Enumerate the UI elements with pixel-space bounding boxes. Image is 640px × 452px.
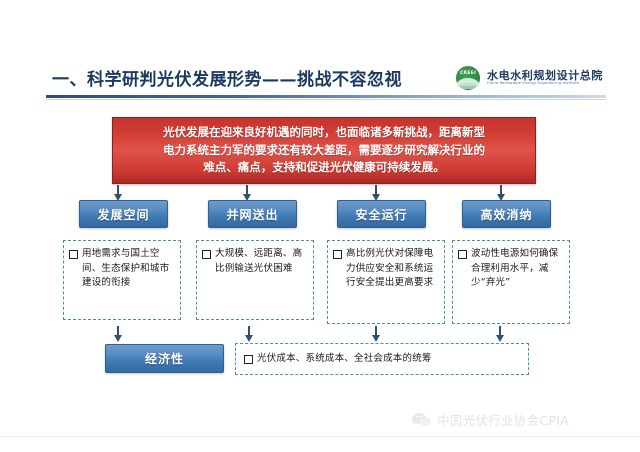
pillar-content-3-text: 高比例光伏对保障电力供应安全和系统运行安全提出更高要求 — [346, 247, 439, 291]
summary-banner-text: 光伏发展在迎来良好机遇的同时，也面临诸多新挑战，距离新型 电力系统主力军的要求还… — [153, 124, 495, 177]
pillar-content-4: 波动性电源如何确保合理利用水平，减少“弃光” — [452, 240, 570, 324]
arrow-pillar-3-to-summary — [372, 326, 381, 342]
logo-wave-lower — [456, 83, 480, 89]
pillar-header-3[interactable]: 安全运行 — [337, 200, 426, 228]
institute-wordmark: 水电水利规划设计总院 China Renewable Energy Engine… — [487, 70, 603, 86]
arrow-banner-to-pillar-1 — [114, 185, 123, 201]
footer-divider — [0, 436, 640, 437]
pillar-content-1-text: 用地需求与国土空间、生态保护和城市建设的衔接 — [82, 247, 175, 291]
wechat-eye-right — [420, 416, 422, 418]
arrow-banner-to-pillar-4 — [497, 185, 506, 201]
wechat-bubble-tail — [413, 422, 416, 425]
title-divider-secondary — [46, 99, 606, 100]
pillar-header-2-label: 并网送出 — [226, 206, 278, 223]
institute-name-cn: 水电水利规划设计总院 — [487, 70, 603, 82]
wechat-bubble-small — [420, 417, 431, 426]
wechat-icon — [412, 412, 432, 428]
summary-content-text: 光伏成本、系统成本、全社会成本的统筹 — [257, 352, 432, 367]
pillar-header-3-label: 安全运行 — [355, 206, 407, 223]
bullet-square-icon — [333, 250, 342, 259]
pillar-content-3: 高比例光伏对保障电力供应安全和系统运行安全提出更高要求 — [327, 240, 445, 324]
pillar-content-1: 用地需求与国土空间、生态保护和城市建设的衔接 — [63, 240, 181, 320]
arrow-head — [245, 335, 253, 342]
arrow-pillar-2-to-summary — [245, 326, 254, 342]
pillar-header-4[interactable]: 高效消纳 — [462, 200, 551, 228]
summary-header-label: 经济性 — [145, 350, 184, 367]
arrow-banner-to-pillar-3 — [372, 185, 381, 201]
arrow-head — [114, 335, 122, 342]
bullet-square-icon — [69, 250, 78, 259]
footer-text: 中国光伏行业协会CPIA — [437, 410, 569, 429]
arrow-head — [496, 335, 504, 342]
pillar-content-2: 大规模、远距离、高比例输送光伏困难 — [196, 240, 314, 320]
pillar-header-1-label: 发展空间 — [97, 206, 149, 223]
institute-logo: CREEI 水电水利规划设计总院 China Renewable Energy … — [456, 66, 603, 90]
title-divider — [46, 95, 606, 98]
page-title: 一、科学研判光伏发展形势——挑战不容忽视 — [52, 65, 402, 90]
bullet-square-icon — [458, 250, 467, 259]
slide-canvas: 一、科学研判光伏发展形势——挑战不容忽视 CREEI 水电水利规划设计总院 Ch… — [0, 0, 640, 452]
wechat-eye-left — [416, 416, 418, 418]
summary-banner: 光伏发展在迎来良好机遇的同时，也面临诸多新挑战，距离新型 电力系统主力军的要求还… — [112, 117, 536, 184]
bullet-square-icon — [202, 250, 211, 259]
pillar-header-4-label: 高效消纳 — [480, 206, 532, 223]
arrow-banner-to-pillar-2 — [243, 185, 252, 201]
pillar-header-2[interactable]: 并网送出 — [208, 200, 297, 228]
pillar-content-4-text: 波动性电源如何确保合理利用水平，减少“弃光” — [471, 247, 564, 291]
institute-name-en: China Renewable Energy Engineering Insti… — [487, 82, 603, 86]
pillar-content-2-text: 大规模、远距离、高比例输送光伏困难 — [215, 247, 308, 276]
pillar-header-1[interactable]: 发展空间 — [79, 200, 168, 228]
summary-header[interactable]: 经济性 — [105, 344, 224, 373]
logo-acronym: CREEI — [456, 71, 480, 76]
bullet-square-icon — [244, 355, 253, 364]
summary-content: 光伏成本、系统成本、全社会成本的统筹 — [235, 343, 529, 375]
arrow-pillar-1-to-summary — [114, 326, 123, 342]
footer-watermark: 中国光伏行业协会CPIA — [412, 410, 569, 429]
hydropower-institute-logo-icon: CREEI — [456, 66, 480, 90]
arrow-head — [372, 335, 380, 342]
arrow-pillar-4-to-summary — [496, 326, 505, 342]
